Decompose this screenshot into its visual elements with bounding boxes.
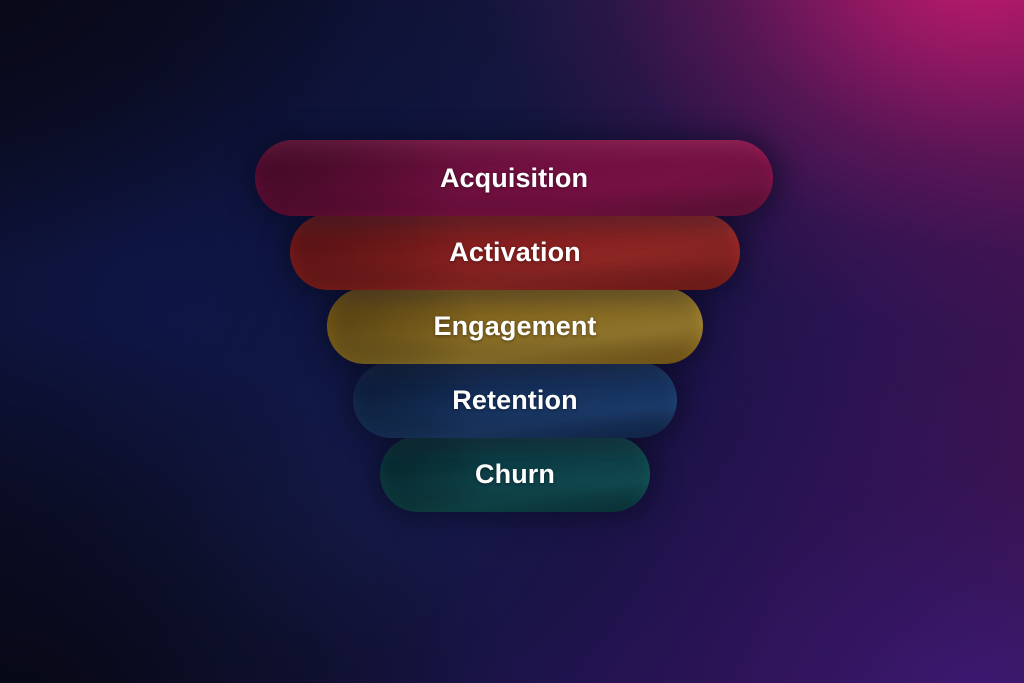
funnel-diagram-canvas: Acquisition Activation Engagement Retent… bbox=[0, 0, 1024, 683]
funnel-stage-label: Retention bbox=[452, 385, 577, 416]
funnel-stage-acquisition[interactable]: Acquisition bbox=[255, 140, 773, 216]
funnel-stage-label: Churn bbox=[475, 459, 555, 490]
funnel-stage-label: Activation bbox=[449, 237, 581, 268]
funnel-stage-label: Engagement bbox=[433, 311, 596, 342]
funnel-stage-label: Acquisition bbox=[440, 163, 588, 194]
funnel-stages-group: Acquisition Activation Engagement Retent… bbox=[0, 0, 1024, 683]
